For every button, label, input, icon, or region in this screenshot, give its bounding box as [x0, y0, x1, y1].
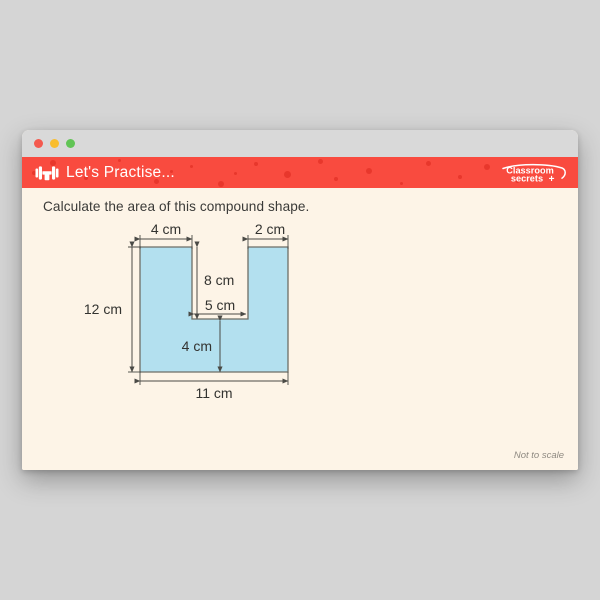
screenshot-root: Let's Practise... Classroom secrets + Ca… — [0, 0, 600, 600]
app-header: Let's Practise... Classroom secrets + — [22, 157, 578, 188]
label-top-left-width: 4 cm — [151, 222, 181, 237]
question-prompt: Calculate the area of this compound shap… — [43, 199, 309, 214]
not-to-scale-note: Not to scale — [514, 450, 564, 461]
maximize-button[interactable] — [66, 139, 75, 148]
traffic-light-buttons — [34, 139, 75, 148]
classroom-secrets-logo[interactable]: Classroom secrets + — [496, 161, 568, 185]
label-lower-height: 4 cm — [182, 338, 212, 354]
label-notch-width: 5 cm — [205, 297, 235, 313]
label-notch-depth: 8 cm — [204, 272, 234, 288]
slide-content: Calculate the area of this compound shap… — [22, 188, 578, 470]
label-top-right-width: 2 cm — [255, 222, 285, 237]
label-left-height: 12 cm — [84, 301, 122, 317]
header-title: Let's Practise... — [66, 164, 175, 182]
browser-window: Let's Practise... Classroom secrets + Ca… — [22, 130, 578, 470]
logo-line2: secrets — [511, 173, 543, 183]
window-chrome-bar — [22, 130, 578, 157]
minimize-button[interactable] — [50, 139, 59, 148]
close-button[interactable] — [34, 139, 43, 148]
dumbbell-icon — [34, 162, 60, 184]
logo-plus: + — [549, 174, 555, 185]
compound-shape-figure: 4 cm 2 cm 12 cm 8 cm 5 c — [44, 222, 564, 442]
label-bottom-width: 11 cm — [195, 385, 232, 401]
